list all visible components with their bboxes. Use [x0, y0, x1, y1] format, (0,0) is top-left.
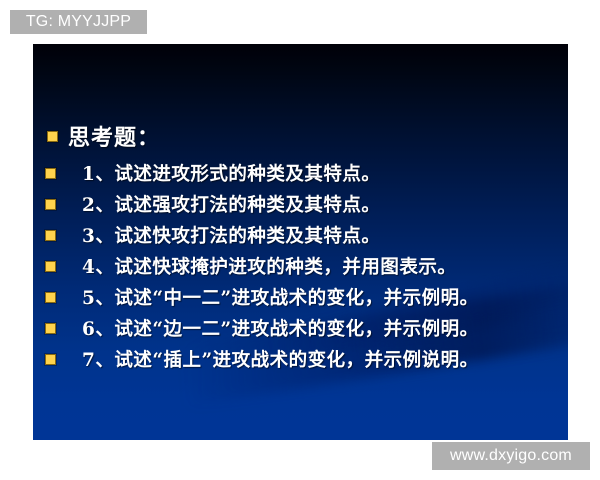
square-bullet-icon	[45, 354, 56, 365]
list-item: 3、试述快攻打法的种类及其特点。	[33, 222, 380, 248]
square-bullet-icon	[45, 168, 56, 179]
watermark-top-left: TG: MYYJJPP	[10, 10, 147, 34]
list-item-label: 3、试述快攻打法的种类及其特点。	[82, 222, 380, 248]
list-item-label: 4、试述快球掩护进攻的种类，并用图表示。	[82, 253, 456, 279]
square-bullet-icon	[45, 323, 56, 334]
list-item-label: 5、试述“中一二”进攻战术的变化，并示例明。	[82, 284, 479, 310]
slide-title: 思考题：	[68, 120, 160, 152]
list-item-label: 6、试述“边一二”进攻战术的变化，并示例明。	[82, 315, 479, 341]
list-item: 1、试述进攻形式的种类及其特点。	[33, 160, 380, 186]
square-bullet-icon	[45, 199, 56, 210]
list-item: 2、试述强攻打法的种类及其特点。	[33, 191, 380, 217]
list-item: 7、试述“插上”进攻战术的变化，并示例说明。	[33, 346, 479, 372]
slide-title-row: 思考题：	[33, 120, 160, 152]
watermark-bottom-right: www.dxyigo.com	[432, 442, 590, 470]
square-bullet-icon	[45, 230, 56, 241]
presentation-slide: 思考题： 1、试述进攻形式的种类及其特点。 2、试述强攻打法的种类及其特点。 3…	[33, 44, 568, 440]
slide-content: 思考题： 1、试述进攻形式的种类及其特点。 2、试述强攻打法的种类及其特点。 3…	[33, 44, 568, 440]
list-item-label: 7、试述“插上”进攻战术的变化，并示例说明。	[82, 346, 479, 372]
list-item-label: 2、试述强攻打法的种类及其特点。	[82, 191, 380, 217]
list-item: 5、试述“中一二”进攻战术的变化，并示例明。	[33, 284, 479, 310]
list-item: 6、试述“边一二”进攻战术的变化，并示例明。	[33, 315, 479, 341]
list-item-label: 1、试述进攻形式的种类及其特点。	[82, 160, 380, 186]
square-bullet-icon	[47, 131, 58, 142]
square-bullet-icon	[45, 292, 56, 303]
list-item: 4、试述快球掩护进攻的种类，并用图表示。	[33, 253, 456, 279]
square-bullet-icon	[45, 261, 56, 272]
